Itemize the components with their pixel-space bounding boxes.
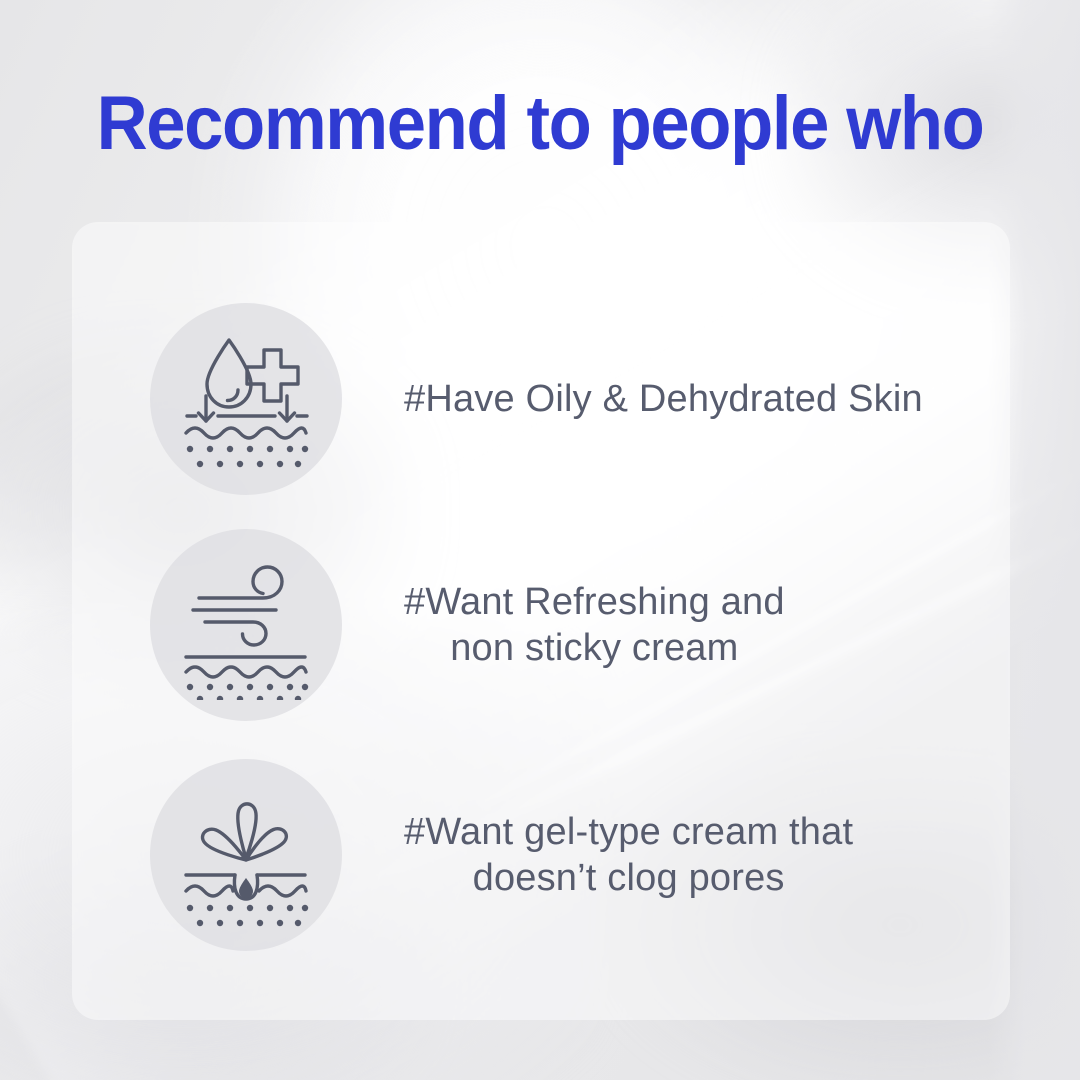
icon-badge [150, 529, 342, 721]
list-item-label: #Have Oily & Dehydrated Skin [404, 376, 923, 422]
refreshing-wind-skin-icon [171, 550, 321, 700]
page-title: Recommend to people who [38, 86, 1042, 162]
clear-pore-droplets-icon [171, 780, 321, 930]
list-item-label: #Want gel-type cream that doesn’t clog p… [404, 809, 853, 902]
list-item: #Want Refreshing and non sticky cream [72, 510, 1010, 740]
list-item: #Have Oily & Dehydrated Skin [72, 284, 1010, 514]
icon-badge [150, 759, 342, 951]
list-item: #Want gel-type cream that doesn’t clog p… [72, 740, 1010, 970]
benefits-list: #Have Oily & Dehydrated Skin [72, 222, 1010, 1020]
hydration-droplet-cross-skin-icon [171, 324, 321, 474]
icon-badge [150, 303, 342, 495]
list-item-label: #Want Refreshing and non sticky cream [404, 579, 785, 672]
